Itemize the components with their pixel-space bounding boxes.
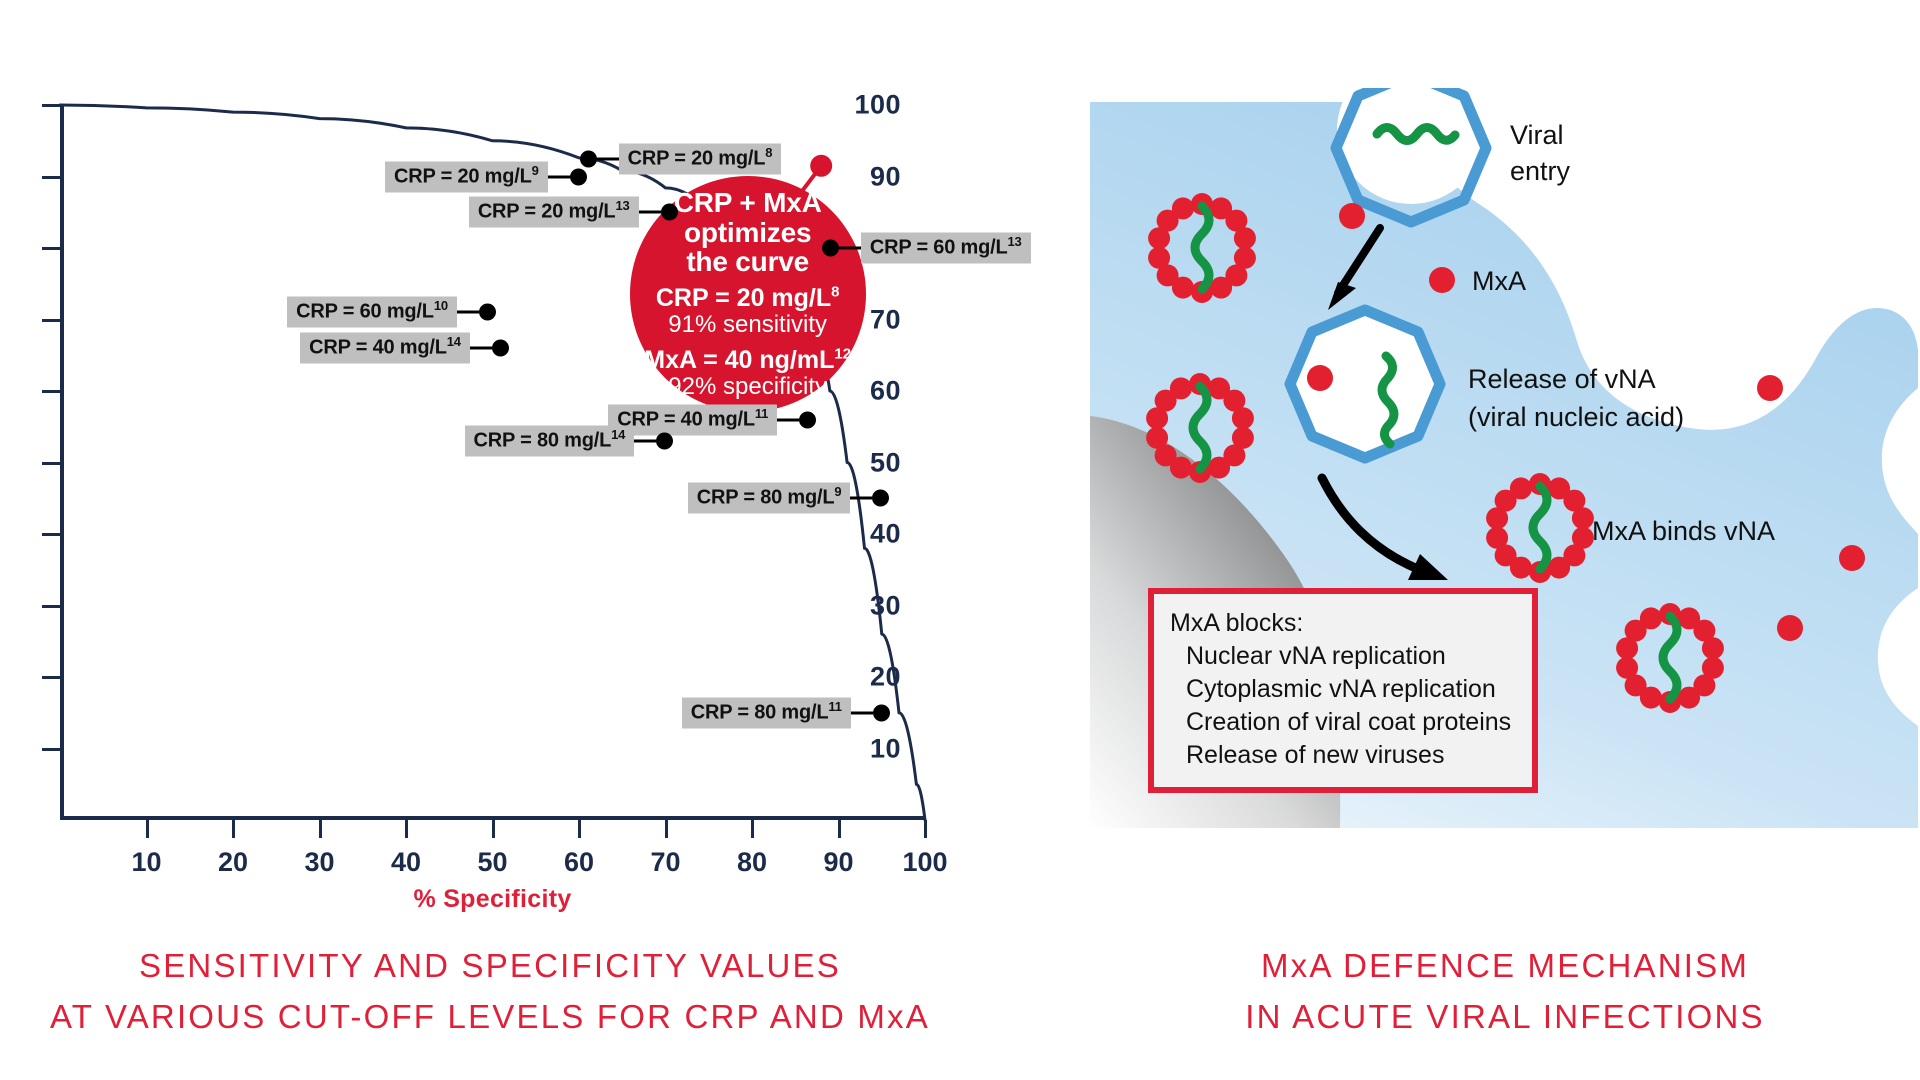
mxa-binds-label: MxA binds vNA [1592, 516, 1775, 546]
callout-detail-2: 91% sensitivity [668, 312, 827, 339]
data-point-text: CRP = 80 mg/L14 [465, 426, 635, 457]
callout-headline-2: optimizes [684, 218, 811, 248]
mxa-dot [1640, 607, 1662, 629]
data-point-dot [479, 304, 496, 321]
left-caption-line-2: AT VARIOUS CUT-OFF LEVELS FOR CRP AND Mx… [0, 991, 980, 1042]
data-point-text: CRP = 80 mg/L11 [682, 697, 851, 728]
data-point-stem [597, 157, 619, 160]
mxa-dot [1510, 477, 1532, 499]
x-tick-40 [405, 820, 408, 838]
x-tick-label-40: 40 [391, 847, 421, 878]
data-point-stem [850, 497, 872, 500]
virus-particle-entry [1336, 88, 1486, 222]
mxa-dot [1210, 277, 1232, 299]
x-tick-20 [232, 820, 235, 838]
y-tick-40 [42, 533, 60, 536]
data-point-label: CRP = 20 mg/L9 [385, 161, 587, 192]
mxa-dot [1148, 247, 1170, 269]
data-point-dot [872, 490, 889, 507]
y-tick-30 [42, 605, 60, 608]
mxa-blocks-items: Nuclear vNA replicationCytoplasmic vNA r… [1170, 640, 1516, 772]
mxa-dot [1616, 657, 1638, 679]
right-caption-line-1: MxA DEFENCE MECHANISM [1090, 940, 1920, 991]
release-label-2: (viral nucleic acid) [1468, 402, 1684, 432]
data-point-stem [634, 440, 656, 443]
x-tick-70 [665, 820, 668, 838]
callout-detail-1: CRP = 20 mg/L8 [656, 284, 840, 312]
x-axis-title: % Specificity [60, 885, 925, 914]
release-label-1: Release of vNA [1468, 364, 1656, 394]
x-tick-30 [319, 820, 322, 838]
roc-chart-panel: 102030405060708090100 102030405060708090… [0, 0, 980, 1080]
x-tick-label-90: 90 [823, 847, 853, 878]
data-point-text: CRP = 20 mg/L8 [619, 143, 782, 174]
data-point-stem [777, 418, 799, 421]
right-caption: MxA DEFENCE MECHANISM IN ACUTE VIRAL INF… [1090, 940, 1920, 1042]
x-tick-10 [146, 820, 149, 838]
callout-optimal-point [810, 155, 832, 177]
data-point-stem [457, 311, 479, 314]
x-tick-50 [492, 820, 495, 838]
data-point-dot [873, 704, 890, 721]
x-tick-label-20: 20 [218, 847, 248, 878]
y-tick-50 [42, 462, 60, 465]
data-point-dot [799, 411, 816, 428]
data-point-text: CRP = 80 mg/L9 [688, 483, 851, 514]
callout-detail-4: 92% specificity [668, 374, 827, 401]
x-tick-label-50: 50 [477, 847, 507, 878]
y-tick-80 [42, 247, 60, 250]
data-point-label: CRP = 80 mg/L9 [688, 483, 890, 514]
callout-detail-3: MxA = 40 ng/mL12 [644, 346, 851, 374]
data-point-stem [639, 211, 661, 214]
data-point-stem [470, 347, 492, 350]
y-tick-10 [42, 748, 60, 751]
mxa-dot [1339, 203, 1365, 229]
data-point-label: CRP = 20 mg/L13 [469, 197, 678, 228]
callout-headline-1: CRP + MxA [674, 188, 822, 218]
mxa-dot [1307, 365, 1333, 391]
mxa-dot [1777, 615, 1803, 641]
mxa-dot [1208, 457, 1230, 479]
x-tick-label-60: 60 [564, 847, 594, 878]
y-tick-100 [42, 104, 60, 107]
left-caption: SENSITIVITY AND SPECIFICITY VALUES AT VA… [0, 940, 980, 1042]
x-tick-label-80: 80 [737, 847, 767, 878]
figure-root: 102030405060708090100 102030405060708090… [0, 0, 1920, 1080]
x-tick-80 [751, 820, 754, 838]
x-tick-90 [838, 820, 841, 838]
mxa-blocks-box: MxA blocks: Nuclear vNA replicationCytop… [1148, 588, 1538, 793]
mxa-dot [1757, 375, 1783, 401]
mxa-blocks-item: Nuclear vNA replication [1170, 640, 1516, 673]
mxa-dot [1678, 687, 1700, 709]
mxa-dot [1839, 545, 1865, 571]
mxa-illustration-panel: Viral entry Release of vNA (viral nuclei… [1090, 88, 1920, 828]
viral-entry-label-2: entry [1510, 156, 1571, 186]
mxa-legend-label: MxA [1472, 266, 1526, 296]
mxa-dot [1486, 527, 1508, 549]
data-point-label: CRP = 40 mg/L14 [300, 333, 509, 364]
data-point-label: CRP = 60 mg/L13 [822, 233, 1031, 264]
data-point-dot [656, 433, 673, 450]
data-point-dot [822, 240, 839, 257]
callout-headline-3: the curve [686, 247, 809, 277]
y-tick-20 [42, 676, 60, 679]
data-point-text: CRP = 60 mg/L10 [287, 297, 457, 328]
data-point-dot [661, 204, 678, 221]
mxa-blocks-item: Cytoplasmic vNA replication [1170, 673, 1516, 706]
mxa-dot [1232, 407, 1254, 429]
x-tick-100 [924, 820, 927, 838]
x-tick-label-100: 100 [902, 847, 947, 878]
data-point-dot [570, 168, 587, 185]
data-point-text: CRP = 60 mg/L13 [861, 233, 1031, 264]
data-point-stem [839, 247, 861, 250]
y-tick-70 [42, 319, 60, 322]
y-tick-60 [42, 390, 60, 393]
mxa-blocks-item: Release of new viruses [1170, 739, 1516, 772]
mxa-blocks-item: Creation of viral coat proteins [1170, 706, 1516, 739]
data-point-text: CRP = 20 mg/L9 [385, 161, 548, 192]
data-point-label: CRP = 80 mg/L14 [465, 426, 674, 457]
x-tick-60 [578, 820, 581, 838]
mxa-dot [1146, 427, 1168, 449]
data-point-label: CRP = 20 mg/L8 [580, 143, 782, 174]
data-point-label: CRP = 60 mg/L10 [287, 297, 496, 328]
mxa-dot [1572, 507, 1594, 529]
data-point-stem [851, 711, 873, 714]
data-point-dot [492, 340, 509, 357]
left-caption-line-1: SENSITIVITY AND SPECIFICITY VALUES [0, 940, 980, 991]
data-point-label: CRP = 80 mg/L11 [682, 697, 890, 728]
mxa-dot [1234, 227, 1256, 249]
x-tick-label-30: 30 [304, 847, 334, 878]
mxa-legend-dot [1429, 267, 1455, 293]
mxa-dot [1702, 637, 1724, 659]
y-tick-90 [42, 176, 60, 179]
data-point-stem [548, 175, 570, 178]
mxa-blocks-title: MxA blocks: [1170, 607, 1516, 640]
x-tick-label-10: 10 [131, 847, 161, 878]
x-tick-label-70: 70 [650, 847, 680, 878]
mxa-dot [1172, 197, 1194, 219]
right-caption-line-2: IN ACUTE VIRAL INFECTIONS [1090, 991, 1920, 1042]
mxa-dot [1170, 377, 1192, 399]
data-point-text: CRP = 40 mg/L14 [300, 333, 470, 364]
viral-entry-label-1: Viral [1510, 120, 1564, 150]
plot-area: 102030405060708090100 102030405060708090… [60, 105, 925, 820]
mxa-dot [1548, 557, 1570, 579]
data-point-text: CRP = 20 mg/L13 [469, 197, 639, 228]
